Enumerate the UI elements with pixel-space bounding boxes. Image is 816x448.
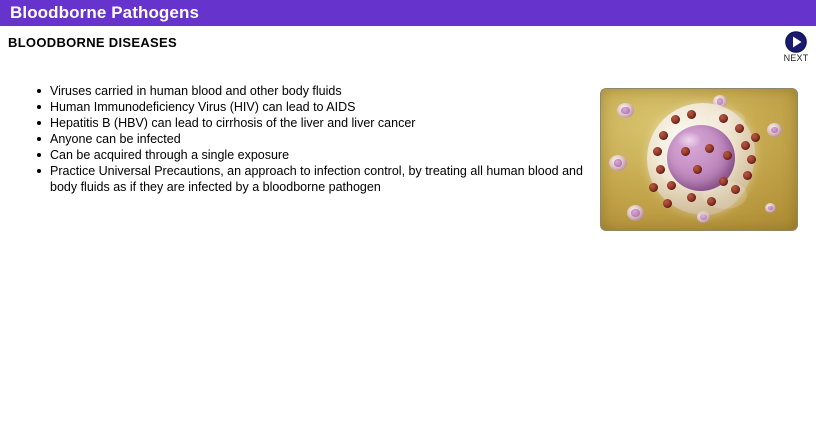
virus-particle bbox=[719, 177, 728, 186]
background-cell bbox=[765, 203, 776, 213]
virus-particle bbox=[649, 183, 658, 192]
window-title-bar: Bloodborne Pathogens bbox=[0, 0, 816, 26]
virus-particle bbox=[681, 147, 690, 156]
content-bullet-list: Viruses carried in human blood and other… bbox=[30, 83, 610, 195]
virus-particle bbox=[663, 199, 672, 208]
virus-particle bbox=[723, 151, 732, 160]
next-button-label: NEXT bbox=[783, 53, 809, 63]
virus-particle bbox=[667, 181, 676, 190]
virus-particle bbox=[687, 193, 696, 202]
virus-particle bbox=[735, 124, 744, 133]
virus-particle bbox=[731, 185, 740, 194]
virus-particle bbox=[693, 165, 702, 174]
virus-particle bbox=[741, 141, 750, 150]
virus-particle bbox=[705, 144, 714, 153]
media-panel bbox=[600, 88, 798, 231]
virus-particle bbox=[687, 110, 696, 119]
background-cell bbox=[767, 123, 782, 137]
virus-particle bbox=[751, 133, 760, 142]
cell-illustration-image bbox=[600, 88, 798, 231]
list-item: Viruses carried in human blood and other… bbox=[50, 83, 610, 99]
virus-particle bbox=[671, 115, 680, 124]
background-cell bbox=[627, 205, 644, 221]
virus-particle bbox=[747, 155, 756, 164]
list-item: Hepatitis B (HBV) can lead to cirrhosis … bbox=[50, 115, 610, 131]
next-button[interactable]: NEXT bbox=[783, 31, 809, 63]
next-arrow-circle-icon bbox=[785, 31, 807, 53]
list-item: Anyone can be infected bbox=[50, 131, 610, 147]
virus-particle bbox=[719, 114, 728, 123]
virus-particle bbox=[653, 147, 662, 156]
virus-particle bbox=[743, 171, 752, 180]
list-item: Can be acquired through a single exposur… bbox=[50, 147, 610, 163]
background-cell bbox=[617, 103, 634, 118]
virus-particle bbox=[707, 197, 716, 206]
virus-particle bbox=[656, 165, 665, 174]
background-cell bbox=[609, 155, 627, 171]
list-item: Practice Universal Precautions, an appro… bbox=[50, 163, 610, 195]
list-item: Human Immunodeficiency Virus (HIV) can l… bbox=[50, 99, 610, 115]
nucleus-highlight bbox=[677, 132, 701, 148]
virus-particle bbox=[659, 131, 668, 140]
window-title: Bloodborne Pathogens bbox=[10, 3, 199, 23]
page-title: BLOODBORNE DISEASES bbox=[8, 35, 177, 50]
